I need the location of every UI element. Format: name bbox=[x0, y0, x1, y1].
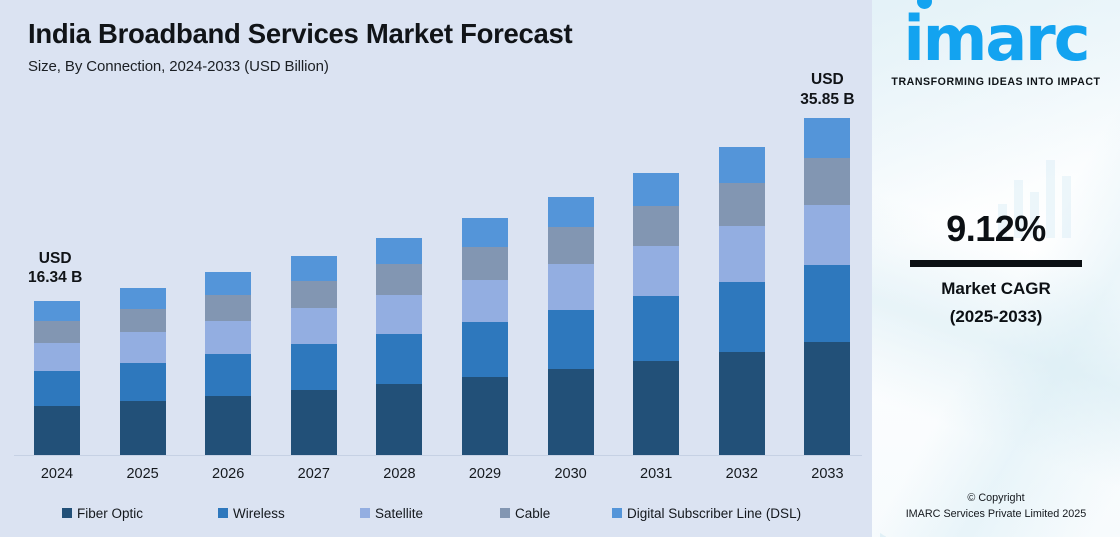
bar-segment[interactable] bbox=[548, 310, 594, 369]
bar-segment[interactable] bbox=[376, 238, 422, 265]
bar-segment[interactable] bbox=[205, 396, 251, 455]
x-axis-tick-2033: 2033 bbox=[804, 466, 850, 482]
brand-panel: imarc TRANSFORMING IDEAS INTO IMPACT 9.1… bbox=[872, 0, 1120, 537]
copyright-line-2: IMARC Services Private Limited 2025 bbox=[872, 506, 1120, 523]
bar-segment[interactable] bbox=[462, 280, 508, 323]
chart-panel: India Broadband Services Market Forecast… bbox=[0, 0, 872, 537]
legend-item-wireless[interactable]: Wireless bbox=[218, 506, 285, 521]
x-axis-tick-2027: 2027 bbox=[291, 466, 337, 482]
bar-2030[interactable] bbox=[548, 197, 594, 455]
bar-2031[interactable] bbox=[633, 173, 679, 455]
legend-swatch-icon bbox=[500, 508, 510, 518]
bar-segment[interactable] bbox=[291, 308, 337, 344]
bar-segment[interactable] bbox=[804, 342, 850, 455]
bar-segment[interactable] bbox=[34, 371, 80, 406]
bar-segment[interactable] bbox=[376, 264, 422, 294]
bar-segment[interactable] bbox=[462, 322, 508, 376]
bar-segment[interactable] bbox=[804, 158, 850, 205]
bar-segment[interactable] bbox=[34, 301, 80, 321]
bar-segment[interactable] bbox=[291, 281, 337, 309]
legend-label: Cable bbox=[515, 506, 550, 521]
x-axis-tick-2031: 2031 bbox=[633, 466, 679, 482]
bar-value-label: USD35.85 B bbox=[800, 70, 854, 109]
bar-segment[interactable] bbox=[633, 246, 679, 297]
bar-segment[interactable] bbox=[120, 309, 166, 332]
bar-2033[interactable]: USD35.85 B bbox=[804, 118, 850, 455]
x-axis-tick-2032: 2032 bbox=[719, 466, 765, 482]
cagr-value: 9.12% bbox=[872, 208, 1120, 250]
logo-tagline: TRANSFORMING IDEAS INTO IMPACT bbox=[872, 76, 1120, 88]
logo-text: imarc bbox=[903, 2, 1088, 75]
bar-segment[interactable] bbox=[291, 390, 337, 455]
cagr-period: (2025-2033) bbox=[872, 307, 1120, 327]
legend-item-cable[interactable]: Cable bbox=[500, 506, 550, 521]
bar-segment[interactable] bbox=[633, 173, 679, 206]
bar-segment[interactable] bbox=[376, 384, 422, 455]
bar-segment[interactable] bbox=[462, 377, 508, 455]
bar-segment[interactable] bbox=[34, 321, 80, 343]
x-axis-tick-2029: 2029 bbox=[462, 466, 508, 482]
x-axis-tick-2026: 2026 bbox=[205, 466, 251, 482]
bar-segment[interactable] bbox=[205, 272, 251, 295]
legend-item-fiber-optic[interactable]: Fiber Optic bbox=[62, 506, 143, 521]
bar-segment[interactable] bbox=[633, 296, 679, 361]
bar-2025[interactable] bbox=[120, 288, 166, 455]
bar-2027[interactable] bbox=[291, 256, 337, 455]
axis-baseline bbox=[14, 455, 862, 456]
copyright-line-1: © Copyright bbox=[872, 490, 1120, 507]
bar-segment[interactable] bbox=[120, 363, 166, 402]
bar-segment[interactable] bbox=[205, 321, 251, 354]
bar-segment[interactable] bbox=[120, 332, 166, 362]
bar-segment[interactable] bbox=[548, 369, 594, 455]
bar-segment[interactable] bbox=[291, 256, 337, 281]
bar-segment[interactable] bbox=[719, 352, 765, 455]
bar-segment[interactable] bbox=[548, 264, 594, 311]
bar-2029[interactable] bbox=[462, 218, 508, 455]
legend-swatch-icon bbox=[62, 508, 72, 518]
bar-segment[interactable] bbox=[205, 354, 251, 396]
bar-segment[interactable] bbox=[719, 183, 765, 226]
bar-segment[interactable] bbox=[120, 401, 166, 455]
legend-label: Wireless bbox=[233, 506, 285, 521]
chart-screenshot: India Broadband Services Market Forecast… bbox=[0, 0, 1120, 537]
bar-segment[interactable] bbox=[804, 118, 850, 158]
x-axis-tick-2030: 2030 bbox=[548, 466, 594, 482]
copyright-notice: © Copyright IMARC Services Private Limit… bbox=[872, 490, 1120, 523]
x-axis-tick-2025: 2025 bbox=[120, 466, 166, 482]
legend-label: Satellite bbox=[375, 506, 423, 521]
bar-2028[interactable] bbox=[376, 238, 422, 455]
bar-segment[interactable] bbox=[291, 344, 337, 390]
bar-segment[interactable] bbox=[376, 295, 422, 334]
chart-legend: Fiber OpticWirelessSatelliteCableDigital… bbox=[0, 500, 872, 526]
bar-segment[interactable] bbox=[719, 147, 765, 183]
legend-item-digital-subscriber-line-dsl[interactable]: Digital Subscriber Line (DSL) bbox=[612, 506, 801, 521]
cagr-block: 9.12% Market CAGR (2025-2033) bbox=[872, 208, 1120, 327]
bar-segment[interactable] bbox=[804, 265, 850, 342]
bar-segment[interactable] bbox=[120, 288, 166, 309]
bar-segment[interactable] bbox=[804, 205, 850, 266]
legend-label: Fiber Optic bbox=[77, 506, 143, 521]
bar-segment[interactable] bbox=[34, 343, 80, 371]
legend-swatch-icon bbox=[218, 508, 228, 518]
bar-segment[interactable] bbox=[719, 282, 765, 353]
legend-label: Digital Subscriber Line (DSL) bbox=[627, 506, 801, 521]
legend-swatch-icon bbox=[612, 508, 622, 518]
legend-item-satellite[interactable]: Satellite bbox=[360, 506, 423, 521]
bar-2024[interactable]: USD16.34 B bbox=[34, 301, 80, 455]
legend-swatch-icon bbox=[360, 508, 370, 518]
imarc-logo: imarc TRANSFORMING IDEAS INTO IMPACT bbox=[872, 8, 1120, 88]
logo-wordmark: imarc bbox=[903, 8, 1088, 70]
bar-segment[interactable] bbox=[462, 247, 508, 280]
cagr-label: Market CAGR bbox=[872, 279, 1120, 299]
bar-segment[interactable] bbox=[34, 406, 80, 455]
bar-segment[interactable] bbox=[205, 295, 251, 321]
bar-segment[interactable] bbox=[376, 334, 422, 384]
bar-segment[interactable] bbox=[462, 218, 508, 247]
bar-2032[interactable] bbox=[719, 147, 765, 455]
bar-segment[interactable] bbox=[719, 226, 765, 281]
cagr-divider bbox=[910, 260, 1082, 267]
bar-value-label: USD16.34 B bbox=[28, 249, 82, 288]
bar-segment[interactable] bbox=[633, 361, 679, 455]
bar-segment[interactable] bbox=[548, 227, 594, 263]
x-axis-tick-2028: 2028 bbox=[376, 466, 422, 482]
bar-2026[interactable] bbox=[205, 272, 251, 455]
x-axis-tick-2024: 2024 bbox=[34, 466, 80, 482]
bar-segment[interactable] bbox=[548, 197, 594, 228]
bar-segment[interactable] bbox=[633, 206, 679, 245]
